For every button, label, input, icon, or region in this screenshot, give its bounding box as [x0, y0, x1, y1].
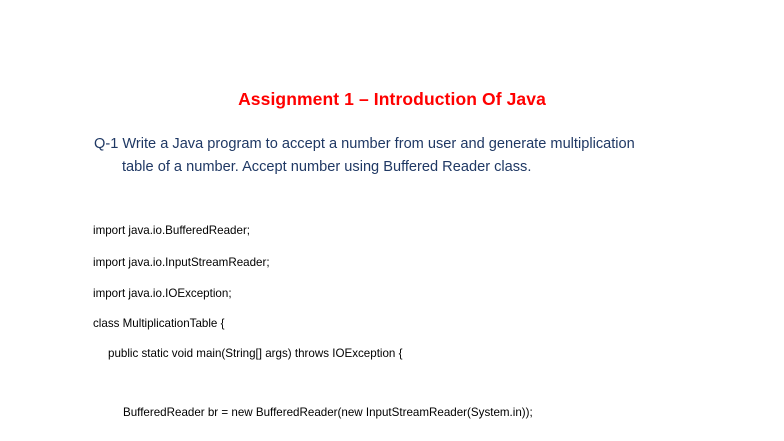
code-line: public static void main(String[] args) t… — [108, 347, 402, 361]
code-block: import java.io.BufferedReader;import jav… — [0, 0, 784, 441]
code-line: BufferedReader br = new BufferedReader(n… — [123, 406, 533, 420]
code-line: class MultiplicationTable { — [93, 317, 224, 331]
code-line: import java.io.IOException; — [93, 287, 232, 301]
code-line: import java.io.BufferedReader; — [93, 224, 250, 238]
code-line: import java.io.InputStreamReader; — [93, 256, 270, 270]
assignment-slide: Assignment 1 – Introduction Of Java Q-1 … — [0, 0, 784, 441]
